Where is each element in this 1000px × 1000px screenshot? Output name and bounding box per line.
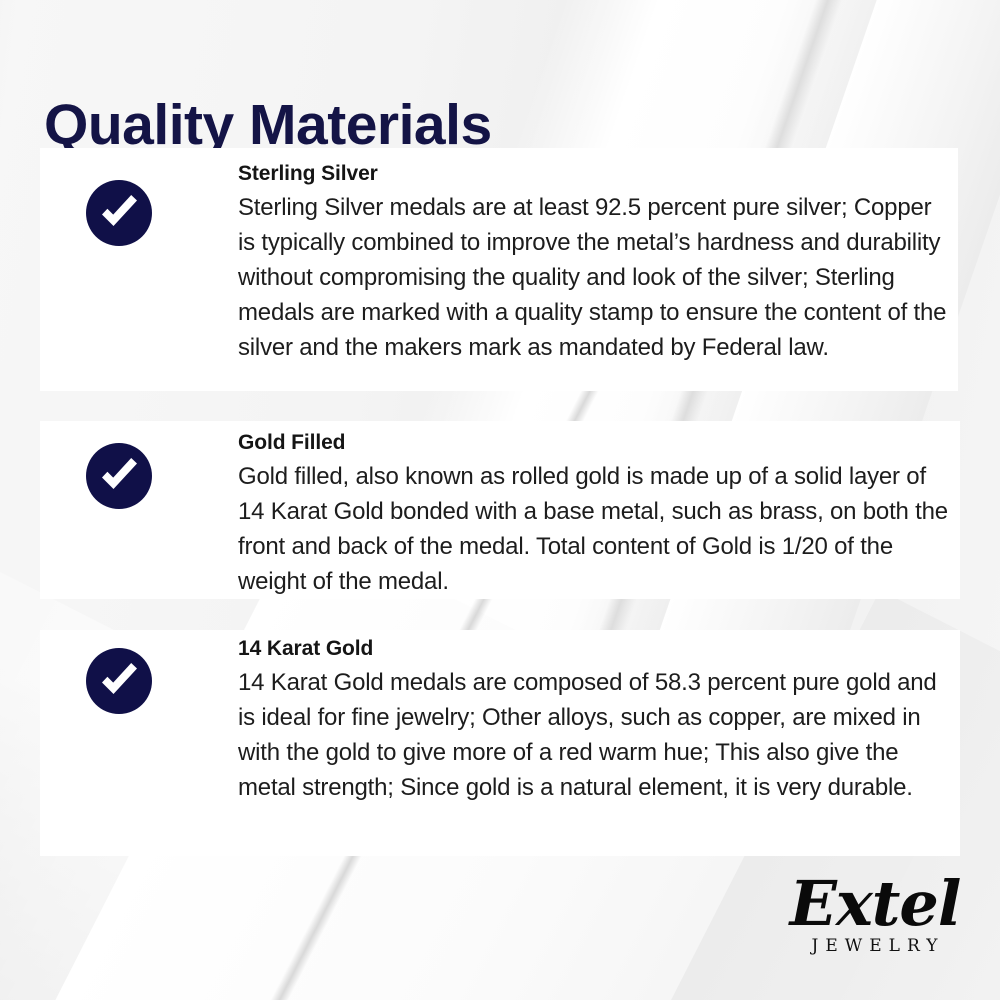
material-card-text: 14 Karat Gold medals are composed of 58.… [238,665,952,805]
brand-logo-wordmark: Extel [775,868,975,940]
material-card-text: Sterling Silver medals are at least 92.5… [238,190,950,365]
infographic-page: Quality Materials Sterling Silver Sterli… [0,0,1000,1000]
material-card-14-karat-gold: 14 Karat Gold 14 Karat Gold medals are c… [40,630,960,856]
material-card-sterling-silver: Sterling Silver Sterling Silver medals a… [40,148,958,391]
material-card-heading: Sterling Silver [238,159,950,189]
check-circle-icon [86,180,152,246]
check-circle-icon [86,443,152,509]
brand-logo: Extel JEWELRY [775,868,975,978]
material-card-body: 14 Karat Gold 14 Karat Gold medals are c… [238,634,952,805]
material-card-heading: Gold Filled [238,428,952,458]
material-card-gold-filled: Gold Filled Gold filled, also known as r… [40,421,960,599]
material-card-heading: 14 Karat Gold [238,634,952,664]
material-card-text: Gold filled, also known as rolled gold i… [238,459,952,599]
material-card-body: Gold Filled Gold filled, also known as r… [238,428,952,599]
check-circle-icon [86,648,152,714]
material-card-body: Sterling Silver Sterling Silver medals a… [238,159,950,365]
